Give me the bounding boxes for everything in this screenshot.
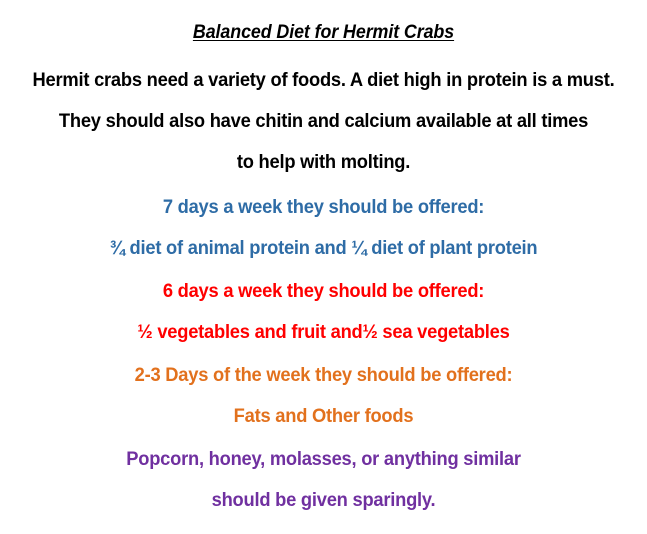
intro-line-3: to help with molting. (19, 142, 627, 183)
sparingly-line-1: Popcorn, honey, molasses, or anything si… (19, 439, 627, 480)
document-title: Balanced Diet for Hermit Crabs (19, 18, 627, 48)
sparingly-line-2: should be given sparingly. (19, 480, 627, 521)
two-three-days-detail: Fats and Other foods (19, 396, 627, 437)
seven-days-section: 7 days a week they should be offered: ¾ … (0, 187, 647, 269)
sparingly-section: Popcorn, honey, molasses, or anything si… (0, 439, 647, 521)
six-days-section: 6 days a week they should be offered: ½ … (0, 271, 647, 353)
intro-section: Hermit crabs need a variety of foods. A … (0, 60, 647, 183)
seven-days-heading: 7 days a week they should be offered: (19, 187, 627, 228)
six-days-heading: 6 days a week they should be offered: (19, 271, 627, 312)
two-three-days-section: 2-3 Days of the week they should be offe… (0, 355, 647, 437)
intro-line-1: Hermit crabs need a variety of foods. A … (19, 60, 627, 101)
document-body: Balanced Diet for Hermit Crabs Hermit cr… (0, 0, 647, 534)
intro-line-2: They should also have chitin and calcium… (19, 101, 627, 142)
seven-days-detail: ¾ diet of animal protein and ¼ diet of p… (19, 228, 627, 269)
six-days-detail: ½ vegetables and fruit and½ sea vegetabl… (19, 312, 627, 353)
two-three-days-heading: 2-3 Days of the week they should be offe… (19, 355, 627, 396)
